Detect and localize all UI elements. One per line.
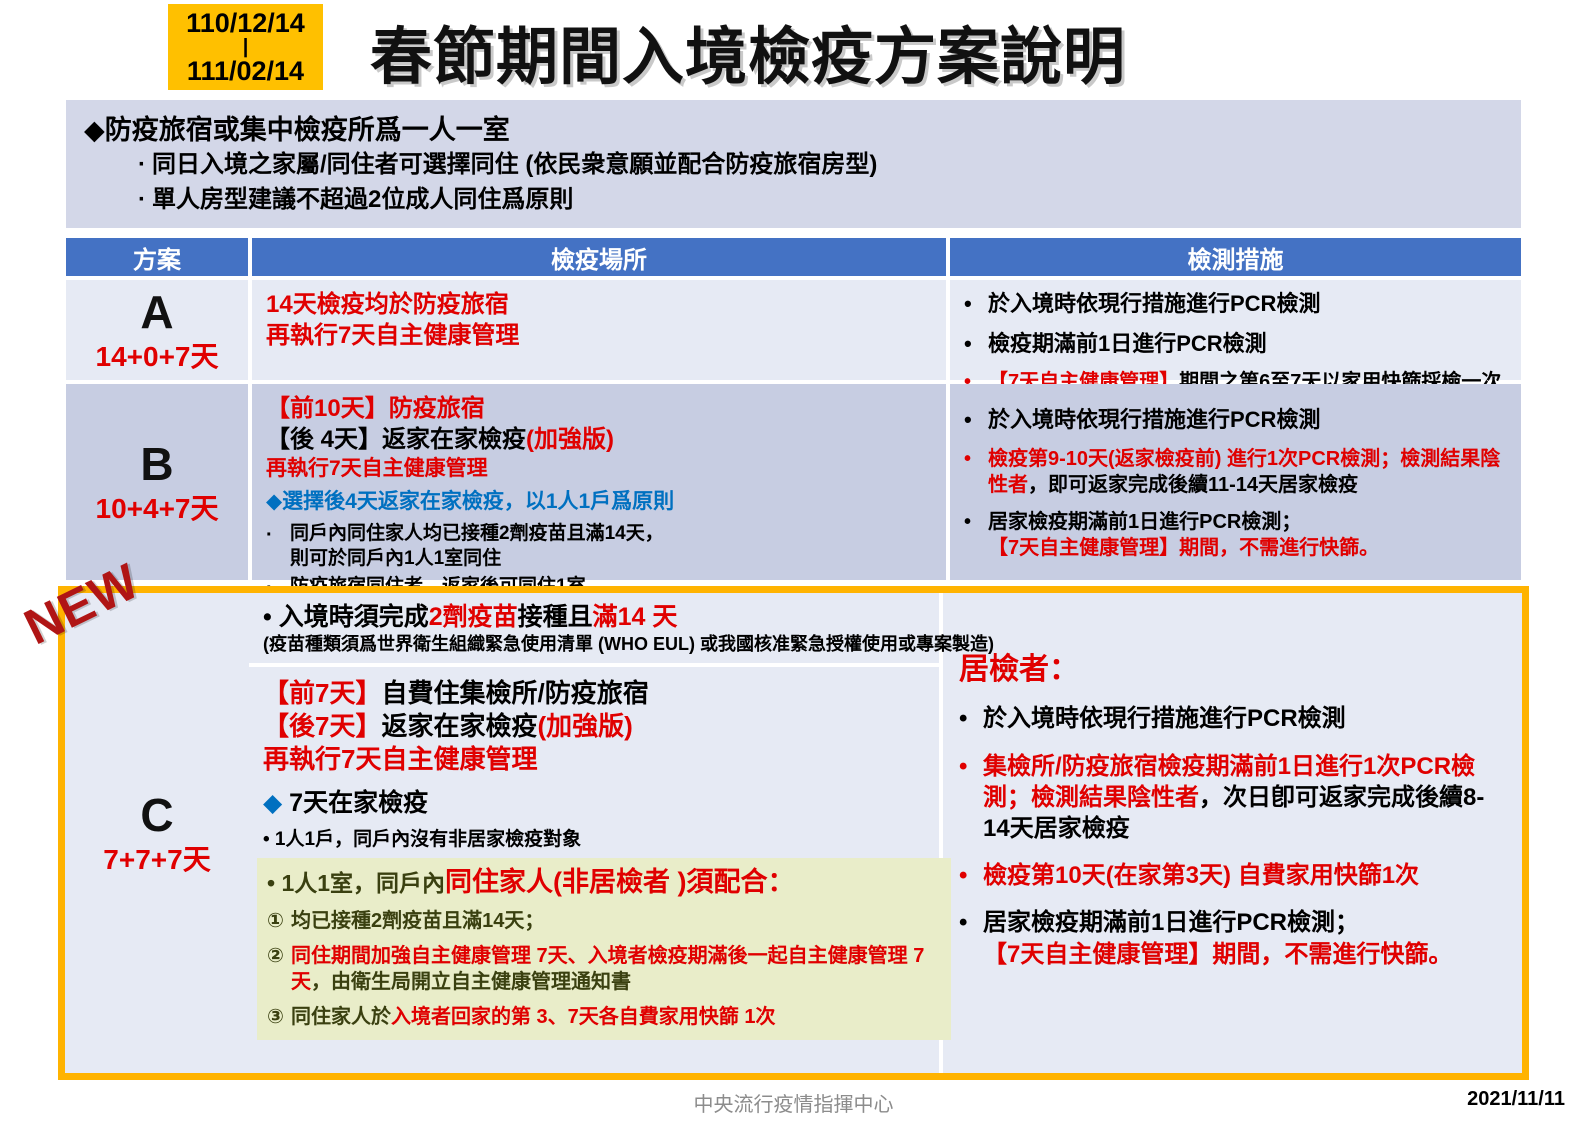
vax-line-2: (疫苗種類須爲世界衛生組織緊急使用清單 (WHO EUL) 或我國核准緊急授權使… xyxy=(263,633,929,657)
date-from: 110/12/14 xyxy=(186,9,305,37)
testing-text-black: ，即可返家完成後續11-14天居家檢疫 xyxy=(1028,474,1358,496)
cohabitant-heading-red: 同住家人(非居檢者 )須配合： xyxy=(445,867,794,897)
infographic-page: 110/12/14 | 111/02/14 春節期間入境檢疫方案說明 ◆防疫旅宿… xyxy=(0,0,1587,1123)
plan-days: 10+4+7天 xyxy=(96,495,219,523)
venue-line: 再執行7天自主健康管理 xyxy=(263,743,929,776)
table-row-c-highlighted: C 7+7+7天 • 入境時須完成2劑疫苗接種且滿14 天 (疫苗種類須爲世界衛… xyxy=(58,586,1529,1080)
list-item: ③ 同住家人於入境者回家的第 3、7天各自費家用快篩 1次 xyxy=(267,1004,943,1030)
plan-cell-a: A 14+0+7天 xyxy=(66,280,248,380)
footer-organization: 中央流行疫情指揮中心 xyxy=(0,1088,1587,1117)
venue-bullet-text: • 1人1戶，同戶內沒有非居家檢疫對象 xyxy=(263,827,929,852)
list-item: • 檢疫期滿前1日進行PCR檢測 xyxy=(964,330,1509,359)
number-marker-icon: ① xyxy=(267,908,291,934)
cohabitant-item-text: 同住期間加強自主健康管理 7天、入境者檢疫期滿後一起自主健康管理 7天，由衛生局… xyxy=(291,943,943,995)
vax-text-black-2: 接種且 xyxy=(518,603,593,631)
bullet-dot-icon: • xyxy=(964,330,988,359)
plan-letter: A xyxy=(140,289,173,335)
table-header-row: 方案 檢疫場所 檢測措施 xyxy=(66,238,1521,276)
testing-text: 於入境時依現行措施進行PCR檢測 xyxy=(988,290,1509,319)
venue-line: 【前7天】自費住集檢所/防疫旅宿 xyxy=(263,677,929,710)
venue-text-black: 自費住集檢所/防疫旅宿 xyxy=(381,678,648,708)
plan-days: 14+0+7天 xyxy=(96,343,219,371)
list-item: ② 同住期間加強自主健康管理 7天、入境者檢疫期滿後一起自主健康管理 7天，由衛… xyxy=(267,943,943,995)
testing-text-red: 【7天自主健康管理】期間，不需進行快篩。 xyxy=(988,537,1379,559)
cohabitant-item-black: ，由衛生局開立自主健康管理通知書 xyxy=(311,971,631,993)
list-item: • 集檢所/防疫旅宿檢疫期滿前1日進行1次PCR檢測；檢測結果陰性者，次日卽可返… xyxy=(959,751,1508,845)
venue-line: 14天檢疫均於防疫旅宿 xyxy=(266,290,934,321)
testing-text-red: 【7天自主健康管理】期間，不需進行快篩。 xyxy=(983,941,1452,968)
table-row: A 14+0+7天 14天檢疫均於防疫旅宿 再執行7天自主健康管理 • 於入境時… xyxy=(66,280,1521,380)
page-title: 春節期間入境檢疫方案說明 xyxy=(370,6,1126,96)
cohabitant-item-black: 同住家人於 xyxy=(291,1006,391,1028)
testing-text: 於入境時依現行措施進行PCR檢測 xyxy=(988,406,1509,435)
list-item: ① 均已接種2劑疫苗且滿14天； xyxy=(267,908,943,934)
column-header-testing: 檢測措施 xyxy=(950,238,1521,276)
venue-text-red: (加強版) xyxy=(526,426,614,453)
vax-text-red-2: 滿14 天 xyxy=(593,603,678,631)
venue-text-red: 【後7天】 xyxy=(263,711,381,741)
cohabitant-heading-black: • 1人1室，同戶內 xyxy=(267,870,445,896)
list-item: · 同戶內同住家人均已接種2劑疫苗且滿14天， 則可於同戶內1人1室同住 xyxy=(266,522,934,571)
testing-cell-c: 居檢者： • 於入境時依現行措施進行PCR檢測 • 集檢所/防疫旅宿檢疫期滿前1… xyxy=(939,593,1522,1073)
vax-text-red: 2劑疫苗 xyxy=(429,603,518,631)
venue-text-black: 【後 4天】返家在家檢疫 xyxy=(266,426,526,453)
testing-text: 居家檢疫期滿前1日進行PCR檢測；【7天自主健康管理】期間，不需進行快篩。 xyxy=(988,509,1509,561)
venue-line: 【前10天】防疫旅宿 xyxy=(266,394,934,425)
cohabitant-item-text: 同住家人於入境者回家的第 3、7天各自費家用快篩 1次 xyxy=(291,1004,943,1030)
column-header-plan: 方案 xyxy=(66,238,248,276)
testing-text: 集檢所/防疫旅宿檢疫期滿前1日進行1次PCR檢測；檢測結果陰性者，次日卽可返家完… xyxy=(983,751,1508,845)
notice-main-line: ◆防疫旅宿或集中檢疫所爲一人一室 xyxy=(84,114,1503,148)
venue-principle-line: ◆選擇後4天返家在家檢疫，以1人1戶爲原則 xyxy=(266,488,934,515)
venue-cell-b: 【前10天】防疫旅宿 【後 4天】返家在家檢疫(加強版) 再執行7天自主健康管理… xyxy=(252,384,946,580)
list-item: • 居家檢疫期滿前1日進行PCR檢測；【7天自主健康管理】期間，不需進行快篩。 xyxy=(964,509,1509,561)
plan-days: 7+7+7天 xyxy=(103,846,210,874)
testing-text: 檢疫第10天(在家第3天) 自費家用快篩1次 xyxy=(983,860,1508,891)
number-marker-icon: ③ xyxy=(267,1004,291,1030)
notice-banner: ◆防疫旅宿或集中檢疫所爲一人一室 ·同日入境之家屬/同住者可選擇同住 (依民衆意… xyxy=(66,100,1521,228)
vax-text-black: • 入境時須完成 xyxy=(263,603,429,631)
testing-heading: 居檢者： xyxy=(959,651,1508,689)
cohabitant-heading: • 1人1室，同戶內同住家人(非居檢者 )須配合： xyxy=(267,866,943,900)
bullet-dot-icon: • xyxy=(964,406,988,435)
venue-line: 再執行7天自主健康管理 xyxy=(266,455,934,482)
table-row: B 10+4+7天 【前10天】防疫旅宿 【後 4天】返家在家檢疫(加強版) 再… xyxy=(66,384,1521,580)
date-to: 111/02/14 xyxy=(187,57,304,85)
testing-cell-a: • 於入境時依現行措施進行PCR檢測 • 檢疫期滿前1日進行PCR檢測 • 【7… xyxy=(950,280,1521,380)
notice-sub-text-2: 單人房型建議不超過2位成人同住爲原則 xyxy=(152,186,573,213)
bullet-dot-icon: • xyxy=(964,446,988,498)
venue-line: 【後7天】返家在家檢疫(加強版) xyxy=(263,710,929,743)
testing-text-black: 居家檢疫期滿前1日進行PCR檢測； xyxy=(983,909,1359,936)
quarantine-plan-table: 方案 檢疫場所 檢測措施 A 14+0+7天 14天檢疫均於防疫旅宿 再執行7天… xyxy=(66,238,1521,580)
notice-sub-line-1: ·同日入境之家屬/同住者可選擇同住 (依民衆意願並配合防疫旅宿房型) xyxy=(138,148,1503,183)
home-quarantine-text: 7天在家檢疫 xyxy=(282,789,428,817)
list-item: • 居家檢疫期滿前1日進行PCR檢測；【7天自主健康管理】期間，不需進行快篩。 xyxy=(959,907,1508,969)
list-item: • 檢疫第9-10天(返家檢疫前) 進行1次PCR檢測；檢測結果陰性者，即可返家… xyxy=(964,446,1509,498)
venue-cell-c: • 入境時須完成2劑疫苗接種且滿14 天 (疫苗種類須爲世界衛生組織緊急使用清單… xyxy=(249,593,939,1073)
testing-text: 檢疫第9-10天(返家檢疫前) 進行1次PCR檢測；檢測結果陰性者，即可返家完成… xyxy=(988,446,1509,498)
testing-text-black: 居家檢疫期滿前1日進行PCR檢測； xyxy=(988,511,1301,533)
number-marker-icon: ② xyxy=(267,943,291,995)
venue-bullet-text: 同戶內同住家人均已接種2劑疫苗且滿14天， 則可於同戶內1人1室同住 xyxy=(290,522,934,571)
page-header: 110/12/14 | 111/02/14 春節期間入境檢疫方案說明 xyxy=(0,0,1587,98)
testing-text: 檢疫期滿前1日進行PCR檢測 xyxy=(988,330,1509,359)
plan-letter: B xyxy=(140,441,173,487)
list-item: • 檢疫第10天(在家第3天) 自費家用快篩1次 xyxy=(959,860,1508,891)
bullet-dot-icon: · xyxy=(266,522,290,571)
notice-sub-text-1: 同日入境之家屬/同住者可選擇同住 (依民衆意願並配合防疫旅宿房型) xyxy=(152,151,877,178)
plan-letter: C xyxy=(140,792,173,838)
bullet-dot-icon: • xyxy=(959,860,983,891)
venue-line: 【後 4天】返家在家檢疫(加強版) xyxy=(266,425,934,456)
bullet-dot-icon: • xyxy=(964,290,988,319)
column-header-venue: 檢疫場所 xyxy=(252,238,946,276)
venue-text-red-2: (加強版) xyxy=(537,711,632,741)
testing-cell-b: • 於入境時依現行措施進行PCR檢測 • 檢疫第9-10天(返家檢疫前) 進行1… xyxy=(950,384,1521,580)
vaccination-requirement: • 入境時須完成2劑疫苗接種且滿14 天 (疫苗種類須爲世界衛生組織緊急使用清單… xyxy=(249,593,939,667)
footer-date: 2021/11/11 xyxy=(1467,1088,1565,1111)
bullet-dot-icon: • xyxy=(959,703,983,734)
list-item: • 於入境時依現行措施進行PCR檢測 xyxy=(964,406,1509,435)
cohabitant-requirements-box: • 1人1室，同戶內同住家人(非居檢者 )須配合： ① 均已接種2劑疫苗且滿14… xyxy=(257,858,951,1041)
bullet-dot-icon: · xyxy=(138,151,146,178)
venue-text-black: 返家在家檢疫 xyxy=(381,711,537,741)
venue-text-red: 【前7天】 xyxy=(263,678,381,708)
testing-text: 於入境時依現行措施進行PCR檢測 xyxy=(983,703,1508,734)
vax-line-1: • 入境時須完成2劑疫苗接種且滿14 天 xyxy=(263,601,929,633)
venue-cell-a: 14天檢疫均於防疫旅宿 再執行7天自主健康管理 xyxy=(252,280,946,380)
bullet-dot-icon: • xyxy=(959,907,983,969)
cohabitant-item-red: 入境者回家的第 3、7天各自費家用快篩 1次 xyxy=(391,1006,775,1028)
list-item: • 於入境時依現行措施進行PCR檢測 xyxy=(959,703,1508,734)
cohabitant-item-text: 均已接種2劑疫苗且滿14天； xyxy=(291,908,544,934)
bullet-dot-icon: • xyxy=(959,751,983,845)
venue-line: 再執行7天自主健康管理 xyxy=(266,321,934,352)
plan-cell-b: B 10+4+7天 xyxy=(66,384,248,580)
testing-text: 居家檢疫期滿前1日進行PCR檢測；【7天自主健康管理】期間，不需進行快篩。 xyxy=(983,907,1508,969)
blue-diamond-icon: ◆ xyxy=(263,789,282,817)
bullet-dot-icon: • xyxy=(964,509,988,561)
date-dash: | xyxy=(243,38,249,56)
plan-cell-c: C 7+7+7天 xyxy=(65,593,249,1073)
list-item: • 於入境時依現行措施進行PCR檢測 xyxy=(964,290,1509,319)
page-footer: 中央流行疫情指揮中心 2021/11/11 xyxy=(0,1086,1587,1123)
notice-sub-line-2: ·單人房型建議不超過2位成人同住爲原則 xyxy=(138,183,1503,218)
home-quarantine-heading: ◆ 7天在家檢疫 xyxy=(263,787,929,819)
bullet-dot-icon: · xyxy=(138,186,146,213)
date-range-badge: 110/12/14 | 111/02/14 xyxy=(168,4,323,90)
